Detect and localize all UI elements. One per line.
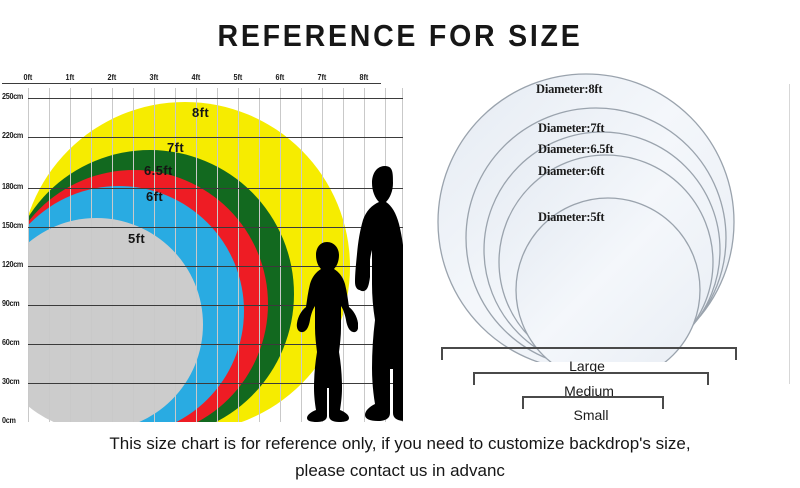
y-tick-label: 150cm [2,221,23,230]
gridline-horizontal [28,188,403,189]
gridline-vertical [49,88,50,422]
x-tick-label: 2ft [107,73,116,82]
page-title: REFERENCE FOR SIZE [32,18,768,54]
x-tick-label: 3ft [149,73,158,82]
y-tick-label: 180cm [2,182,23,191]
gridline-vertical [259,88,260,422]
child-silhouette [296,240,358,422]
ring-label-8ft: 8ft [192,105,209,120]
gridline-vertical [175,88,176,422]
disc-label-6.5ft: Diameter:6.5ft [538,142,613,157]
y-tick-label: 250cm [2,92,23,101]
y-tick-label: 220cm [2,131,23,140]
ring-label-5ft: 5ft [128,231,145,246]
disc-label-6ft: Diameter:6ft [538,164,604,179]
x-tick-label: 7ft [317,73,326,82]
gridline-vertical [112,88,113,422]
x-axis-line [2,83,381,84]
x-tick-label: 0ft [23,73,32,82]
gridline-horizontal [28,137,403,138]
size-reference-chart: REFERENCE FOR SIZE [0,0,800,488]
x-tick-label: 4ft [191,73,200,82]
gridline-vertical [196,88,197,422]
gridline-vertical [154,88,155,422]
disc-label-7ft: Diameter:7ft [538,121,604,136]
gridline-vertical [238,88,239,422]
y-tick-label: 60cm [2,338,19,347]
y-tick-label: 90cm [2,299,19,308]
caption-line-1: This size chart is for reference only, i… [0,430,800,457]
caption-line-2: please contact us in advanc [0,457,800,484]
height-reference-chart: 8ft 7ft 6.5ft 6ft 5ft 250cm 220cm 180cm … [28,88,403,422]
disc-stack [420,62,792,362]
x-tick-label: 1ft [65,73,74,82]
gridline-vertical [280,88,281,422]
y-tick-label: 30cm [2,377,19,386]
ring-label-6ft: 6ft [146,189,163,204]
panel-edge-line [789,84,790,384]
ring-label-7ft: 7ft [167,140,184,155]
gridline-horizontal [28,98,403,99]
x-tick-label: 8ft [359,73,368,82]
bracket-label-small: Small [522,407,660,423]
disc-label-8ft: Diameter:8ft [536,82,602,97]
x-tick-label: 6ft [275,73,284,82]
disc-label-5ft: Diameter:5ft [538,210,604,225]
chart-plot-area: 8ft 7ft 6.5ft 6ft 5ft [28,88,403,422]
gridline-vertical [91,88,92,422]
caption: This size chart is for reference only, i… [0,430,800,484]
gridline-vertical [28,88,29,422]
adult-silhouette [350,164,403,422]
y-tick-label: 120cm [2,260,23,269]
gridline-vertical [217,88,218,422]
gridline-vertical [133,88,134,422]
y-tick-label: 0cm [2,416,16,425]
gridline-vertical [70,88,71,422]
ring-label-6.5ft: 6.5ft [144,163,173,178]
x-tick-label: 5ft [233,73,242,82]
gridline-horizontal [28,227,403,228]
